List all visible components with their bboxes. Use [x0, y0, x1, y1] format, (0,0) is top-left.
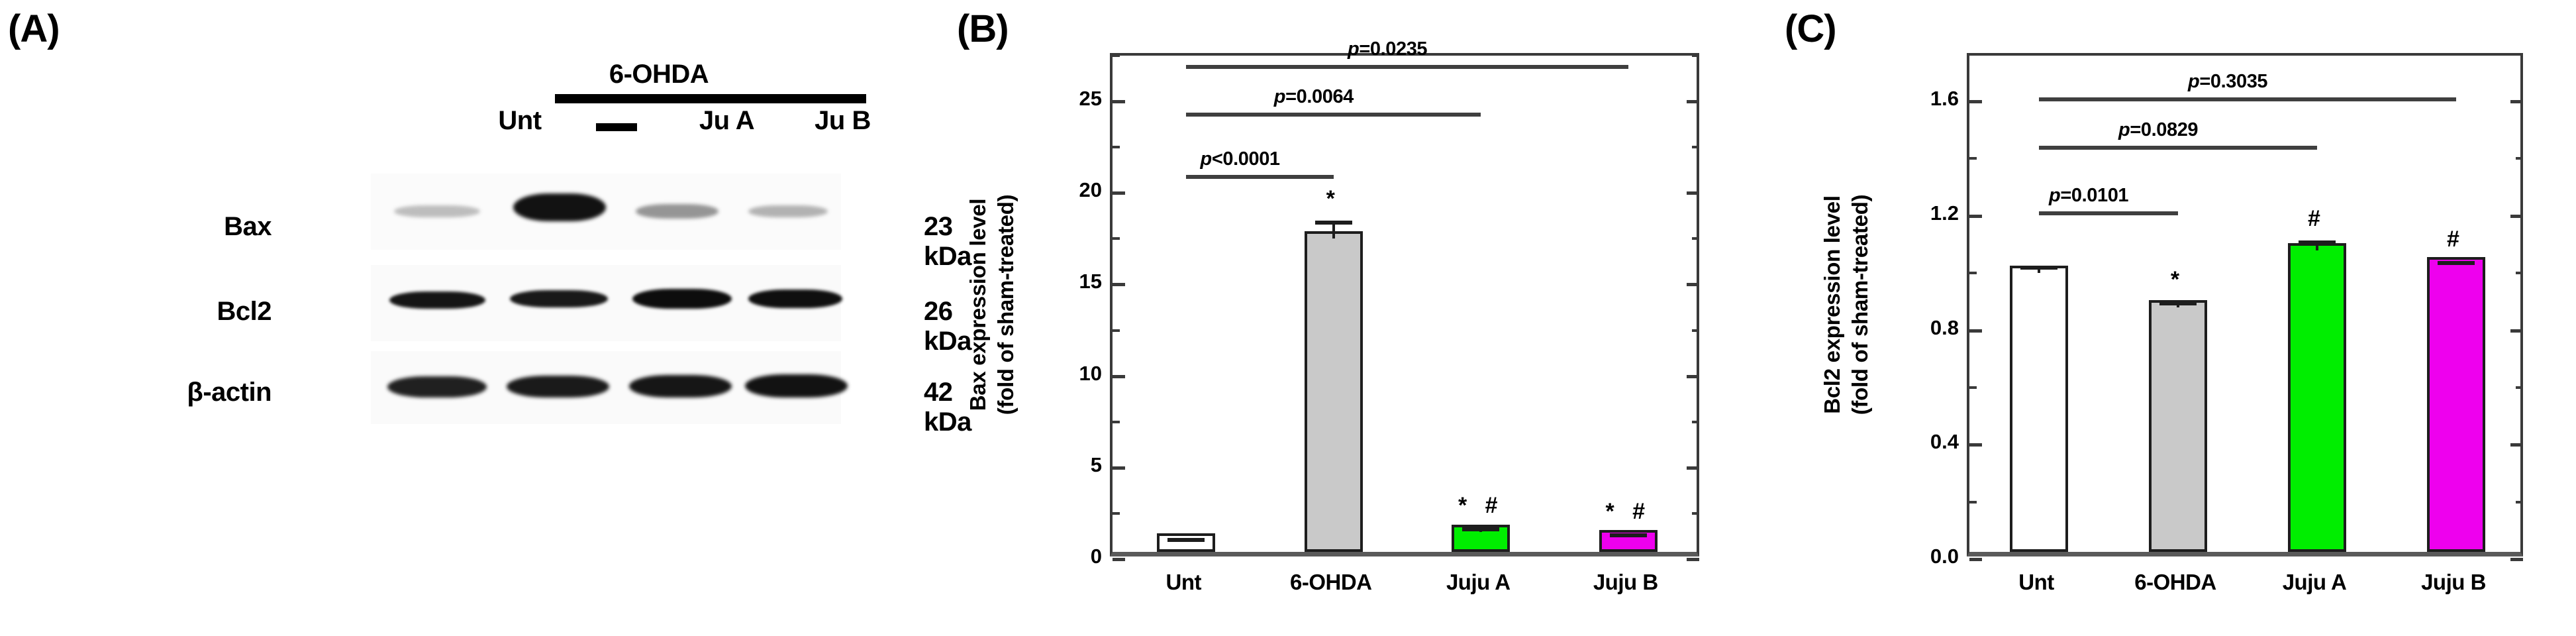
panel-b-ytick-label: 20 [1042, 178, 1102, 202]
panel-b-ytick-minor [1113, 54, 1120, 57]
panel-b-pvalue-bracket-line [1186, 65, 1628, 69]
blot-group-underline [555, 94, 866, 103]
panel-b-ytick-minor [1113, 512, 1120, 515]
blot-band-bcl2-unt [389, 291, 485, 309]
blot-band-actin-unt [387, 376, 487, 397]
panel-c-ytick-minor [1969, 501, 1977, 503]
panel-b-pvalue-bracket-line [1186, 175, 1334, 179]
blot-band-actin-6ohda [507, 376, 609, 397]
panel-c-ytick-minor [1969, 157, 1977, 160]
blot-strip-beta-actin [371, 351, 841, 424]
panel-b-ytick-minor [1692, 146, 1699, 148]
panel-b-ytick-minor [1692, 512, 1699, 515]
panel-c-ytick-label: 0.4 [1899, 430, 1959, 454]
blot-band-actin-ju-a [629, 375, 732, 397]
panel-c-ytick-minor [1969, 386, 1977, 389]
panel-c-y-axis-title-line1: Bcl2 expression level [1820, 53, 1845, 556]
panel-b-errorbar-cap [1610, 533, 1647, 537]
panel-b-ytick-minor [1692, 54, 1699, 57]
blot-image: 6-OHDA Unt Ju A Ju B Bax 23 kDa Bcl2 26 … [0, 0, 927, 636]
panel-c-pvalue-label: p=0.0829 [2118, 119, 2198, 141]
panel-b-y-axis-title-line2: (fold of sham-treated) [993, 53, 1018, 556]
panel-b-ytick-major [1113, 558, 1125, 561]
panel-b-ytick-minor [1113, 329, 1120, 332]
panel-c-letter: (C) [1785, 7, 1836, 51]
panel-c-ytick-minor [2516, 157, 2523, 160]
blot-lane-label-unt: Unt [464, 106, 576, 136]
blot-band-bax-unt [394, 205, 480, 217]
panel-b-ytick-major-right [1687, 100, 1699, 103]
panel-b-errorbar-cap [1167, 538, 1205, 542]
panel-b-pvalue-label: p=0.0064 [1274, 86, 1354, 108]
panel-c-bar-6-ohda [2149, 300, 2207, 552]
panel-c-errorbar-cap [2159, 301, 2197, 305]
panel-b-significance-marker: * # [1582, 499, 1675, 525]
panel-b-ytick-major [1113, 283, 1125, 286]
panel-c-significance-marker: # [2410, 227, 2502, 252]
panel-b-ytick-major [1113, 375, 1125, 378]
blot-row-label-bax: Bax [86, 212, 272, 242]
blot-lane-label-vehicle-dash [596, 123, 637, 131]
panel-b-ytick-minor [1692, 421, 1699, 423]
panel-b-ytick-major [1113, 100, 1125, 103]
panel-c-plot-area: *##p=0.0101p=0.0829p=0.3035 [1967, 53, 2523, 556]
blot-strip-bax [371, 174, 841, 250]
panel-c-ytick-major [1969, 443, 1982, 447]
panel-b-ytick-minor [1692, 237, 1699, 240]
panel-c-ytick-major [1969, 329, 1982, 333]
panel-b-errorbar-cap [1315, 221, 1352, 225]
panel-b-ytick-minor [1113, 146, 1120, 148]
panel-b-ytick-label: 10 [1042, 362, 1102, 386]
blot-group-label-6-ohda: 6-OHDA [503, 60, 815, 89]
blot-band-bax-ju-a [636, 204, 718, 219]
panel-b-ytick-label: 0 [1042, 545, 1102, 568]
panel-c-ytick-major-right [2510, 215, 2523, 218]
blot-band-bcl2-6ohda [510, 290, 608, 307]
panel-b-xtick-label-juju-a: Juju A [1392, 570, 1564, 595]
blot-band-bax-ju-b [748, 205, 828, 217]
panel-c-ytick-major [1969, 100, 1982, 103]
panel-c-y-axis-title-line2: (fold of sham-treated) [1848, 53, 1873, 556]
panel-b-ytick-minor [1113, 237, 1120, 240]
panel-c-bar-juju-a [2288, 243, 2346, 552]
panel-b-pvalue-label: p<0.0001 [1201, 148, 1280, 170]
panel-c-pvalue-bracket-line [2039, 146, 2317, 150]
panel-c-ytick-minor [2516, 272, 2523, 274]
panel-b-xtick-label-unt: Unt [1097, 570, 1269, 595]
panel-c-bcl2-chart: (C) Bcl2 expression level (fold of sham-… [1775, 0, 2576, 636]
panel-b-ytick-major-right [1687, 466, 1699, 470]
panel-b-y-axis-title-line1: Bax expression level [966, 53, 991, 556]
panel-c-ytick-minor [2516, 386, 2523, 389]
panel-c-bar-juju-b [2427, 257, 2485, 552]
panel-b-xtick-label-juju-b: Juju B [1540, 570, 1712, 595]
panel-b-plot-area: ** #* #p<0.0001p=0.0064p=0.0235 [1110, 53, 1699, 556]
blot-strip-bcl2 [371, 265, 841, 341]
panel-c-ytick-label: 1.2 [1899, 201, 1959, 225]
panel-c-pvalue-bracket-line [2039, 211, 2178, 215]
panel-b-ytick-major-right [1687, 375, 1699, 378]
panel-b-ytick-minor [1692, 329, 1699, 332]
panel-c-pvalue-bracket-line [2039, 97, 2456, 101]
panel-c-ytick-minor [1969, 272, 1977, 274]
panel-b-bax-chart: (B) Bax expression level (fold of sham-t… [927, 0, 1775, 636]
panel-c-pvalue-label: p=0.3035 [2188, 71, 2267, 93]
panel-b-bar-6-ohda [1305, 231, 1363, 552]
panel-b-ytick-minor [1113, 421, 1120, 423]
blot-band-bax-6ohda [513, 193, 606, 221]
panel-c-ytick-major-right [2510, 443, 2523, 447]
panel-b-xtick-label-6-ohda: 6-OHDA [1245, 570, 1417, 595]
panel-b-pvalue-bracket-line [1186, 113, 1481, 117]
panel-b-ytick-major-right [1687, 191, 1699, 195]
panel-c-significance-marker: * [2132, 267, 2224, 293]
panel-c-pvalue-label: p=0.0101 [2049, 185, 2128, 207]
panel-c-ytick-label: 0.0 [1899, 545, 1959, 568]
panel-c-bar-unt [2010, 266, 2068, 552]
blot-row-label-bcl2: Bcl2 [76, 297, 272, 327]
panel-a-western-blot: (A) 6-OHDA Unt Ju A Ju B Bax 23 kDa Bcl2… [0, 0, 927, 636]
panel-c-ytick-major [1969, 558, 1982, 561]
panel-b-significance-marker: * # [1434, 493, 1527, 519]
panel-b-ytick-label: 5 [1042, 453, 1102, 477]
panel-c-errorbar-cap [2438, 261, 2475, 265]
blot-row-label-beta-actin: β-actin [40, 378, 272, 407]
panel-c-ytick-major [1969, 215, 1982, 218]
panel-c-errorbar-cap [2299, 240, 2336, 244]
panel-b-ytick-major-right [1687, 283, 1699, 286]
panel-b-pvalue-label: p=0.0235 [1348, 38, 1427, 60]
panel-b-ytick-major [1113, 191, 1125, 195]
blot-lane-label-ju-b: Ju B [785, 106, 901, 136]
panel-b-ytick-label: 25 [1042, 87, 1102, 111]
blot-lane-label-ju-a: Ju A [669, 106, 785, 136]
blot-band-bcl2-ju-b [748, 290, 842, 308]
panel-c-xtick-label-juju-b: Juju B [2367, 570, 2540, 595]
blot-band-actin-ju-b [745, 374, 848, 397]
panel-c-ytick-major-right [2510, 329, 2523, 333]
panel-c-ytick-major-right [2510, 100, 2523, 103]
blot-band-bcl2-ju-a [632, 289, 732, 309]
panel-b-letter: (B) [957, 7, 1009, 51]
panel-c-ytick-label: 0.8 [1899, 316, 1959, 340]
panel-b-significance-marker: * [1287, 186, 1380, 212]
panel-b-ytick-label: 15 [1042, 270, 1102, 293]
panel-c-ytick-label: 1.6 [1899, 87, 1959, 111]
panel-c-ytick-major-right [2510, 558, 2523, 561]
panel-c-significance-marker: # [2271, 206, 2363, 232]
panel-c-errorbar-cap [2020, 266, 2057, 270]
panel-b-errorbar-cap [1462, 527, 1499, 531]
panel-c-ytick-minor [2516, 501, 2523, 503]
panel-b-ytick-major-right [1687, 558, 1699, 561]
panel-b-ytick-major [1113, 466, 1125, 470]
panel-b-bar-unt [1157, 533, 1215, 552]
